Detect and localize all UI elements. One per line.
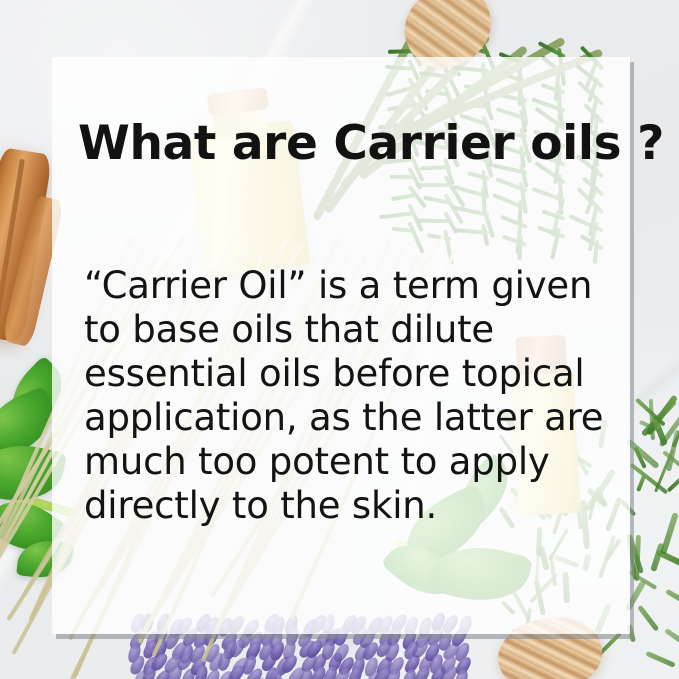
- body-paragraph: “Carrier Oil” is a term given to base oi…: [84, 264, 614, 528]
- graphic-canvas: What are Carrier oils ? “Carrier Oil” is…: [0, 0, 679, 679]
- body-line: “Carrier Oil” is a term given: [84, 264, 614, 308]
- body-line: to base oils that dilute: [84, 308, 614, 352]
- thyme-sprig: [637, 605, 659, 632]
- thyme-sprig: [665, 588, 679, 608]
- body-line: directly to the skin.: [84, 484, 614, 528]
- thyme-sprig: [661, 512, 679, 555]
- thyme-sprig: [664, 628, 679, 647]
- body-line: application, as the latter are: [84, 396, 614, 440]
- thyme-sprig: [637, 473, 647, 491]
- body-line: much too potent to apply: [84, 440, 614, 484]
- body-line: essential oils before topical: [84, 352, 614, 396]
- page-title: What are Carrier oils ?: [78, 118, 664, 171]
